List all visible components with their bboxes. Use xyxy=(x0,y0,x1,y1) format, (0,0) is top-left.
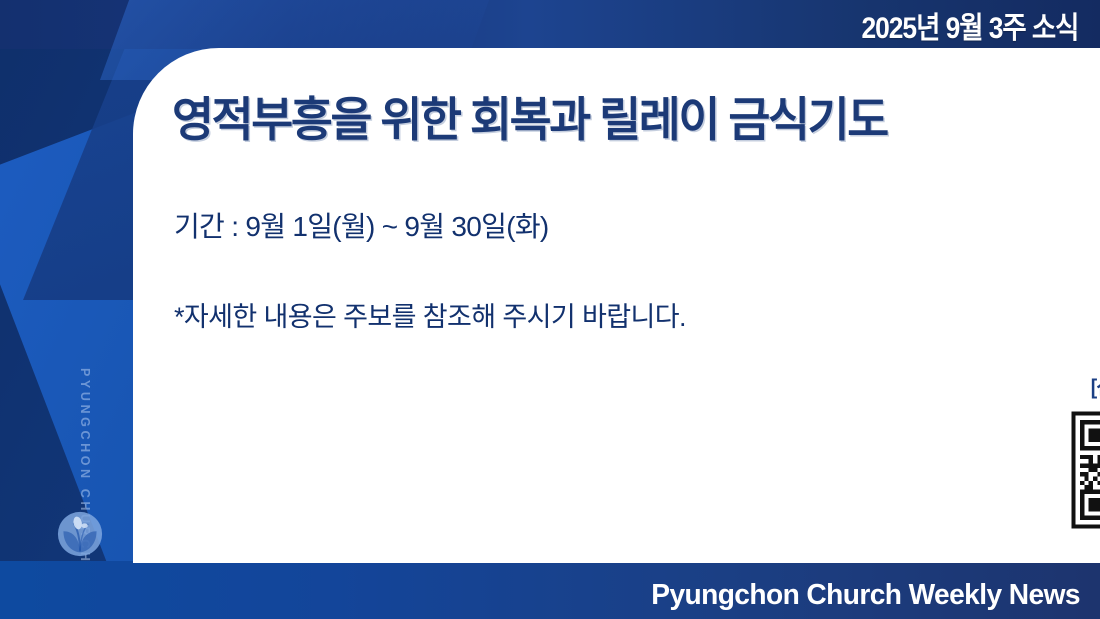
page-title: 영적부흥을 위한 회복과 릴레이 금식기도 xyxy=(172,81,887,150)
application-link-label: [신청링크] xyxy=(1068,371,1100,401)
application-link-block[interactable]: [신청링크] xyxy=(1063,371,1100,533)
church-flower-logo-icon xyxy=(57,511,103,557)
qr-code-icon[interactable] xyxy=(1067,407,1100,533)
header-date-label: 2025년 9월 3주 소식 xyxy=(861,2,1078,47)
weekly-news-slide: 2025년 9월 3주 소식 영적부흥을 위한 회복과 릴레이 금식기도 기간 … xyxy=(0,0,1100,619)
footer-brand-label: Pyungchon Church Weekly News xyxy=(651,579,1080,612)
period-label: 기간 : 9월 1일(월) ~ 9월 30일(화) xyxy=(174,205,549,245)
content-card-inner: 영적부흥을 위한 회복과 릴레이 금식기도 기간 : 9월 1일(월) ~ 9월… xyxy=(172,48,1100,563)
content-card: 영적부흥을 위한 회복과 릴레이 금식기도 기간 : 9월 1일(월) ~ 9월… xyxy=(133,48,1100,563)
note-label: *자세한 내용은 주보를 참조해 주시기 바랍니다. xyxy=(174,295,686,334)
